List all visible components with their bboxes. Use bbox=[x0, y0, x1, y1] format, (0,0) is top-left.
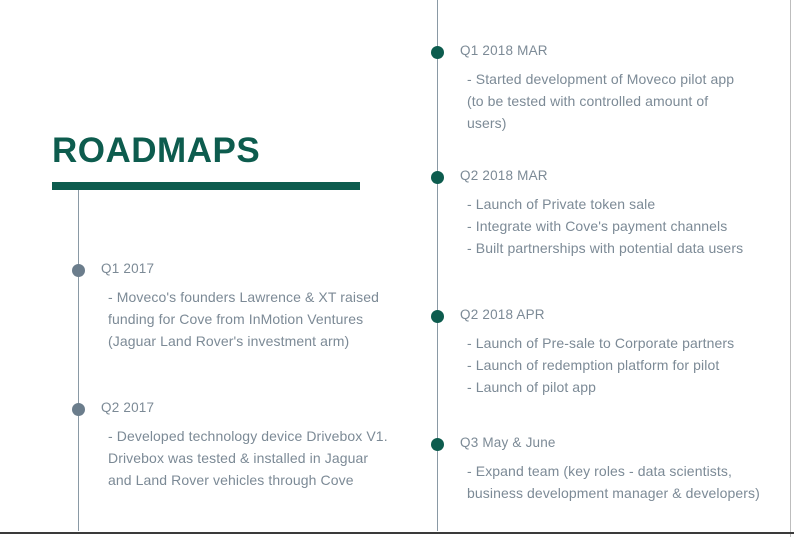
timeline-body-line: - Developed technology device Drivebox V… bbox=[108, 425, 388, 447]
timeline-body-line: - Moveco's founders Lawrence & XT raised bbox=[108, 286, 379, 308]
timeline-body-line: (Jaguar Land Rover's investment arm) bbox=[108, 330, 379, 352]
page-right-border bbox=[790, 0, 791, 537]
timeline-body-line: - Launch of pilot app bbox=[467, 376, 734, 398]
timeline-dot-icon bbox=[431, 46, 444, 59]
timeline-body-line: business development manager & developer… bbox=[467, 482, 760, 504]
timeline-item-body: - Launch of Pre-sale to Corporate partne… bbox=[467, 332, 734, 398]
timeline-item-body: - Launch of Private token sale - Integra… bbox=[467, 193, 743, 259]
timeline-body-line: users) bbox=[467, 112, 734, 134]
timeline-item-body: - Moveco's founders Lawrence & XT raised… bbox=[108, 286, 379, 352]
title-underline-bar bbox=[52, 182, 360, 190]
heading-block: ROADMAPS bbox=[52, 133, 382, 190]
timeline-body-line: - Launch of Pre-sale to Corporate partne… bbox=[467, 332, 734, 354]
page-title: ROADMAPS bbox=[52, 133, 382, 168]
timeline-body-line: - Launch of Private token sale bbox=[467, 193, 743, 215]
timeline-body-line: - Launch of redemption platform for pilo… bbox=[467, 354, 734, 376]
timeline-item-label: Q2 2018 MAR bbox=[460, 167, 548, 186]
timeline-body-line: - Integrate with Cove's payment channels bbox=[467, 215, 743, 237]
timeline-item-label: Q1 2018 MAR bbox=[460, 42, 548, 61]
timeline-item-body: - Developed technology device Drivebox V… bbox=[108, 425, 388, 491]
roadmap-slide: ROADMAPS Q1 2017 - Moveco's founders Law… bbox=[0, 0, 794, 537]
timeline-body-line: funding for Cove from InMotion Ventures bbox=[108, 308, 379, 330]
timeline-body-line: - Built partnerships with potential data… bbox=[467, 237, 743, 259]
timeline-dot-icon bbox=[431, 171, 444, 184]
timeline-rail-right bbox=[437, 0, 438, 531]
timeline-dot-icon bbox=[72, 264, 85, 277]
timeline-dot-icon bbox=[72, 403, 85, 416]
timeline-item-body: - Started development of Moveco pilot ap… bbox=[467, 68, 734, 134]
timeline-body-line: - Started development of Moveco pilot ap… bbox=[467, 68, 734, 90]
timeline-dot-icon bbox=[431, 438, 444, 451]
timeline-rail-left bbox=[78, 190, 79, 531]
timeline-item-label: Q2 2017 bbox=[101, 399, 154, 418]
page-bottom-border bbox=[0, 532, 794, 534]
timeline-body-line: - Expand team (key roles - data scientis… bbox=[467, 460, 760, 482]
timeline-item-label: Q1 2017 bbox=[101, 260, 154, 279]
timeline-body-line: (to be tested with controlled amount of bbox=[467, 90, 734, 112]
timeline-body-line: Drivebox was tested & installed in Jagua… bbox=[108, 447, 388, 469]
timeline-dot-icon bbox=[431, 310, 444, 323]
timeline-item-body: - Expand team (key roles - data scientis… bbox=[467, 460, 760, 504]
timeline-body-line: and Land Rover vehicles through Cove bbox=[108, 469, 388, 491]
timeline-item-label: Q3 May & June bbox=[460, 434, 556, 453]
timeline-item-label: Q2 2018 APR bbox=[460, 306, 545, 325]
